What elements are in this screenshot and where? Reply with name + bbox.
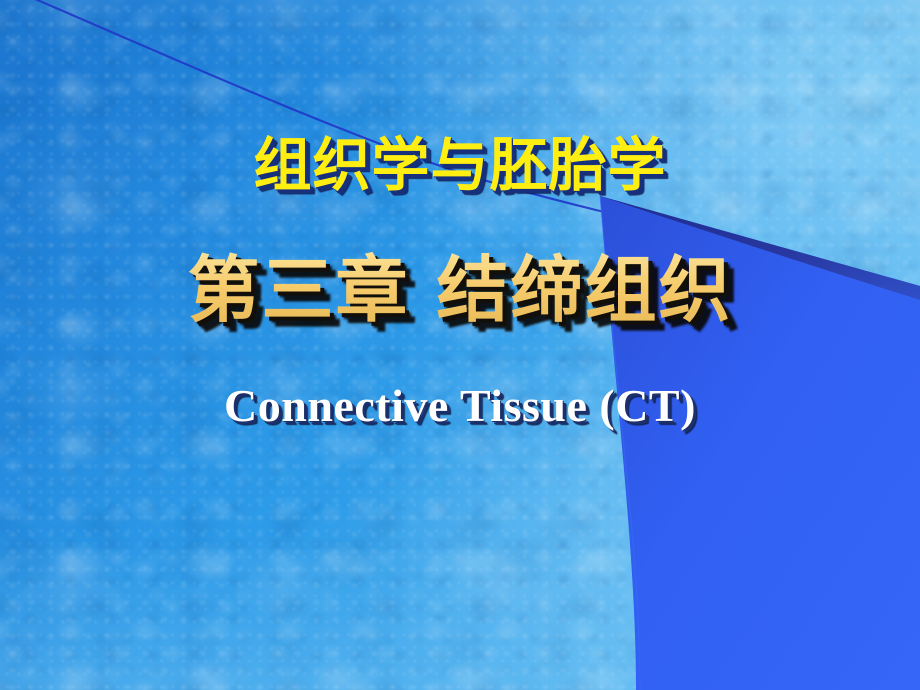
presentation-slide: 组织学与胚胎学 第三章 结缔组织 Connective Tissue (CT) [0,0,920,690]
chapter-title-cn: 第三章 结缔组织 [0,248,920,332]
decorative-swoosh-artwork [0,0,920,690]
course-title-cn: 组织学与胚胎学 [0,132,920,198]
subtitle-en: Connective Tissue (CT) [0,378,920,434]
